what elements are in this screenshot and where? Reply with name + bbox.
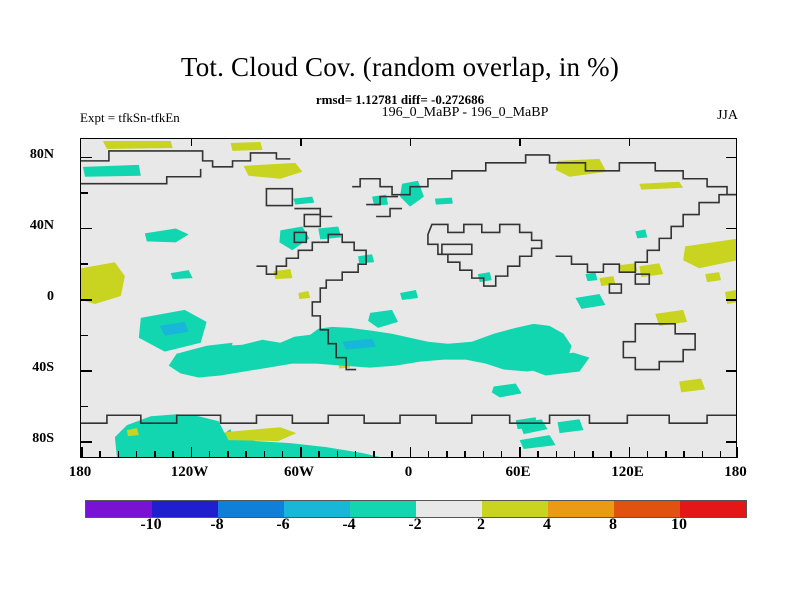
colorbar-band-8[interactable]: [614, 501, 680, 517]
colorbar-tick-8: 8: [583, 516, 643, 534]
x-tick-major: [81, 447, 83, 458]
colorbar-tick-10: 10: [649, 516, 709, 534]
x-minor-tick: [373, 451, 375, 458]
colorbar-band-1[interactable]: [152, 501, 218, 517]
x-minor-tick: [592, 451, 594, 458]
x-minor-tick: [227, 451, 229, 458]
y-tick-0: [81, 299, 92, 301]
x-minor-tick: [428, 451, 430, 458]
x-axis-label-180w: 180: [40, 464, 120, 481]
season-label: JJA: [660, 108, 738, 124]
colorbar-tick-neg4: -4: [319, 516, 379, 534]
x-tick-top: [410, 139, 412, 146]
x-tick-top: [519, 139, 521, 146]
y-tick-80s: [81, 441, 92, 443]
figure-canvas: Tot. Cloud Cov. (random overlap, in %) r…: [0, 0, 800, 600]
colorbar-band-5[interactable]: [416, 501, 482, 517]
x-tick-top: [191, 139, 193, 146]
x-minor-tick: [264, 451, 266, 458]
colorbar-band-6[interactable]: [482, 501, 548, 517]
colorbar-tick-4: 4: [517, 516, 577, 534]
colorbar-tick-neg10: -10: [121, 516, 181, 534]
anomaly-shading-layer: [81, 141, 736, 457]
x-minor-tick: [683, 451, 685, 458]
x-minor-tick: [556, 451, 558, 458]
x-minor-tick: [136, 451, 138, 458]
x-tick-major: [737, 447, 739, 458]
x-minor-tick: [209, 451, 211, 458]
x-minor-tick: [391, 451, 393, 458]
x-minor-tick: [501, 451, 503, 458]
y-minor-tick: [81, 263, 88, 265]
y-axis-label-40n: 40N: [0, 218, 54, 234]
x-tick-major: [519, 447, 521, 458]
x-tick-top: [629, 139, 631, 146]
x-minor-tick: [483, 451, 485, 458]
colorbar-tick-2: 2: [451, 516, 511, 534]
x-minor-tick: [245, 451, 247, 458]
x-tick-major: [191, 447, 193, 458]
colorbar-band-7[interactable]: [548, 501, 614, 517]
experiment-label: Expt = tfkSn-tfkEn: [80, 110, 180, 126]
y-tick-right: [726, 157, 737, 159]
y-minor-tick: [81, 192, 88, 194]
x-axis-label-180e: 180: [696, 464, 776, 481]
x-axis-label-120e: 120E: [588, 464, 668, 481]
x-tick-major: [300, 447, 302, 458]
x-minor-tick: [665, 451, 667, 458]
y-minor-tick: [81, 406, 88, 408]
y-tick-right: [726, 441, 737, 443]
y-tick-80n: [81, 157, 92, 159]
y-tick-right: [726, 299, 737, 301]
map-plot-area[interactable]: [80, 138, 737, 458]
x-axis-label-0: 0: [369, 464, 449, 481]
y-axis-label-0: 0: [0, 289, 54, 305]
x-minor-tick: [172, 451, 174, 458]
y-tick-right: [726, 228, 737, 230]
colorbar-band-4[interactable]: [350, 501, 416, 517]
x-minor-tick: [446, 451, 448, 458]
colorbar-band-3[interactable]: [284, 501, 350, 517]
x-minor-tick: [118, 451, 120, 458]
colorbar-band-9[interactable]: [680, 501, 746, 517]
x-axis-label-120w: 120W: [150, 464, 230, 481]
colorbar-tick-neg8: -8: [187, 516, 247, 534]
colorbar-tick-neg2: -2: [385, 516, 445, 534]
x-axis-label-60e: 60E: [478, 464, 558, 481]
x-minor-tick: [647, 451, 649, 458]
y-axis-label-80s: 80S: [0, 431, 54, 447]
x-tick-top: [300, 139, 302, 146]
x-minor-tick: [282, 451, 284, 458]
colorbar-tick-labels: -10-8-6-4-224810: [0, 516, 800, 540]
colorbar-band-0[interactable]: [86, 501, 152, 517]
x-minor-tick: [355, 451, 357, 458]
x-minor-tick: [318, 451, 320, 458]
map-svg: [81, 139, 736, 457]
y-minor-tick: [81, 335, 88, 337]
colorbar-band-2[interactable]: [218, 501, 284, 517]
x-axis-label-60w: 60W: [259, 464, 339, 481]
y-tick-40s: [81, 370, 92, 372]
x-minor-tick: [464, 451, 466, 458]
x-minor-tick: [337, 451, 339, 458]
y-tick-right: [726, 370, 737, 372]
y-axis-label-80n: 80N: [0, 147, 54, 163]
x-minor-tick: [154, 451, 156, 458]
x-minor-tick: [702, 451, 704, 458]
page-title: Tot. Cloud Cov. (random overlap, in %): [0, 52, 800, 83]
y-tick-40n: [81, 228, 92, 230]
colorbar-tick-neg6: -6: [253, 516, 313, 534]
x-minor-tick: [610, 451, 612, 458]
x-minor-tick: [720, 451, 722, 458]
x-minor-tick: [574, 451, 576, 458]
x-minor-tick: [99, 451, 101, 458]
case-comparison-label: 196_0_MaBP - 196_0_MaBP: [300, 105, 630, 121]
x-tick-major: [629, 447, 631, 458]
x-minor-tick: [537, 451, 539, 458]
y-axis-label-40s: 40S: [0, 360, 54, 376]
x-tick-major: [410, 447, 412, 458]
